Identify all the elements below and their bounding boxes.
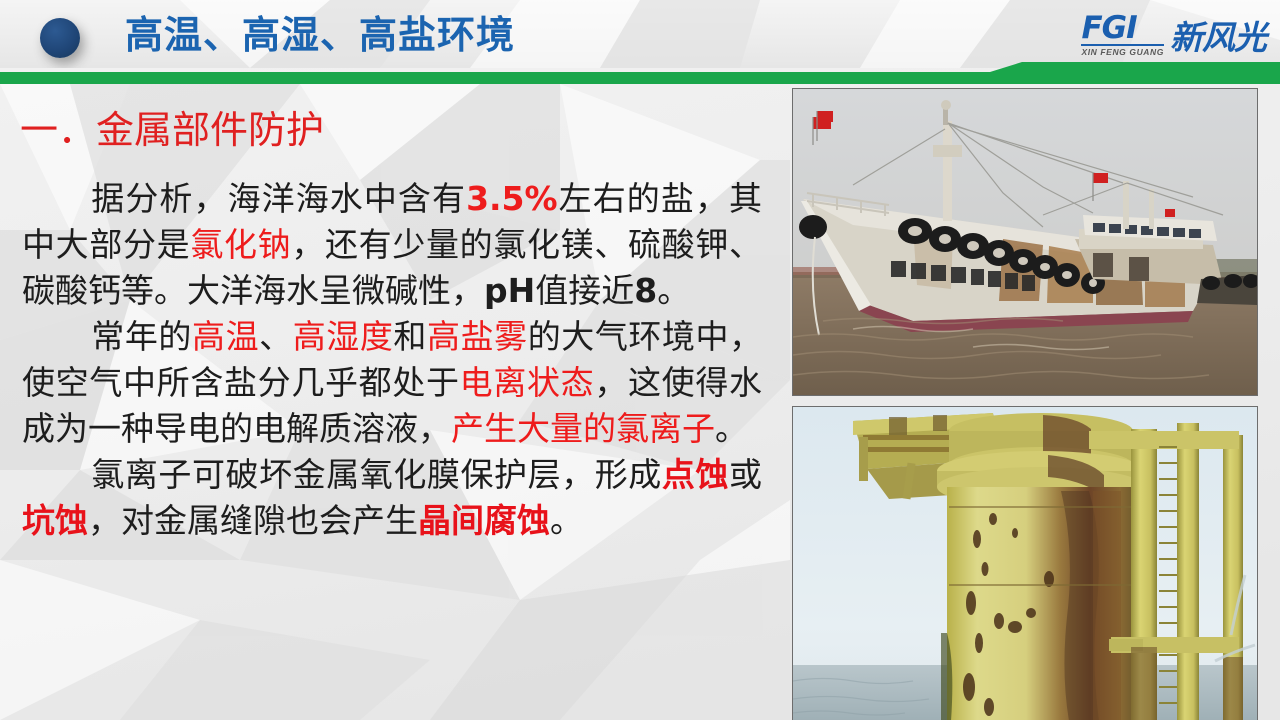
rusted-fishing-boat-photo [792,88,1258,396]
text-run: 坑蚀 [22,501,88,540]
text-run: 。 [715,409,748,448]
text-run: 电离状态 [460,363,595,402]
bullet-dot-icon [40,18,80,58]
text-run: pH [484,271,535,310]
text-run: 产生大量的氯离子 [451,409,715,448]
logo-chinese-text: 新风光 [1170,20,1266,56]
text-run: 、 [259,317,293,356]
text-run: 点蚀 [662,455,729,494]
text-run: 氯化钠 [190,225,291,264]
logo-subtitle-text: XIN FENG GUANG [1081,44,1164,58]
text-run: 晶间腐蚀 [418,501,550,540]
slide: 高温、高湿、高盐环境 FGI XIN FENG GUANG 新风光 一．金属部件… [0,0,1280,720]
text-run: 值接近 [535,271,634,310]
page-title: 高温、高湿、高盐环境 [125,9,515,61]
text-run: 据分析，海洋海水中含有 [91,179,466,218]
text-run: 高盐雾 [427,317,528,356]
corroded-offshore-pile-photo [792,406,1258,720]
text-run: 3.5% [466,179,558,218]
paragraph-p2: 常年的高温、高湿度和高盐雾的大气环境中，使空气中所含盐分几乎都处于电离状态，这使… [22,314,762,452]
paragraph-p3: 氯离子可破坏金属氧化膜保护层，形成点蚀或坑蚀，对金属缝隙也会产生晶间腐蚀。 [22,452,762,544]
text-run: ，对金属缝隙也会产生 [88,501,418,540]
logo-fgi-mark: FGI XIN FENG GUANG [1081,13,1164,58]
company-logo: FGI XIN FENG GUANG 新风光 [1081,12,1266,58]
text-run: 高温 [192,317,259,356]
text-run: 。 [657,271,690,310]
paragraph-p1: 据分析，海洋海水中含有3.5%左右的盐，其中大部分是氯化钠，还有少量的氯化镁、硫… [22,176,762,314]
text-run: 氯离子可破坏金属氧化膜保护层，形成 [91,455,662,494]
section-heading: 一．金属部件防护 [20,103,324,157]
text-run: 。 [550,501,583,540]
text-run: 和 [393,317,427,356]
logo-mark-text: FGI [1081,13,1136,43]
text-run: 常年的 [91,317,192,356]
green-divider [0,62,1280,84]
slide-header: 高温、高湿、高盐环境 FGI XIN FENG GUANG 新风光 [0,0,1280,68]
text-run: 或 [729,455,762,494]
text-run: 8 [634,271,657,310]
text-run: 高湿度 [293,317,394,356]
body-text: 据分析，海洋海水中含有3.5%左右的盐，其中大部分是氯化钠，还有少量的氯化镁、硫… [22,176,762,544]
